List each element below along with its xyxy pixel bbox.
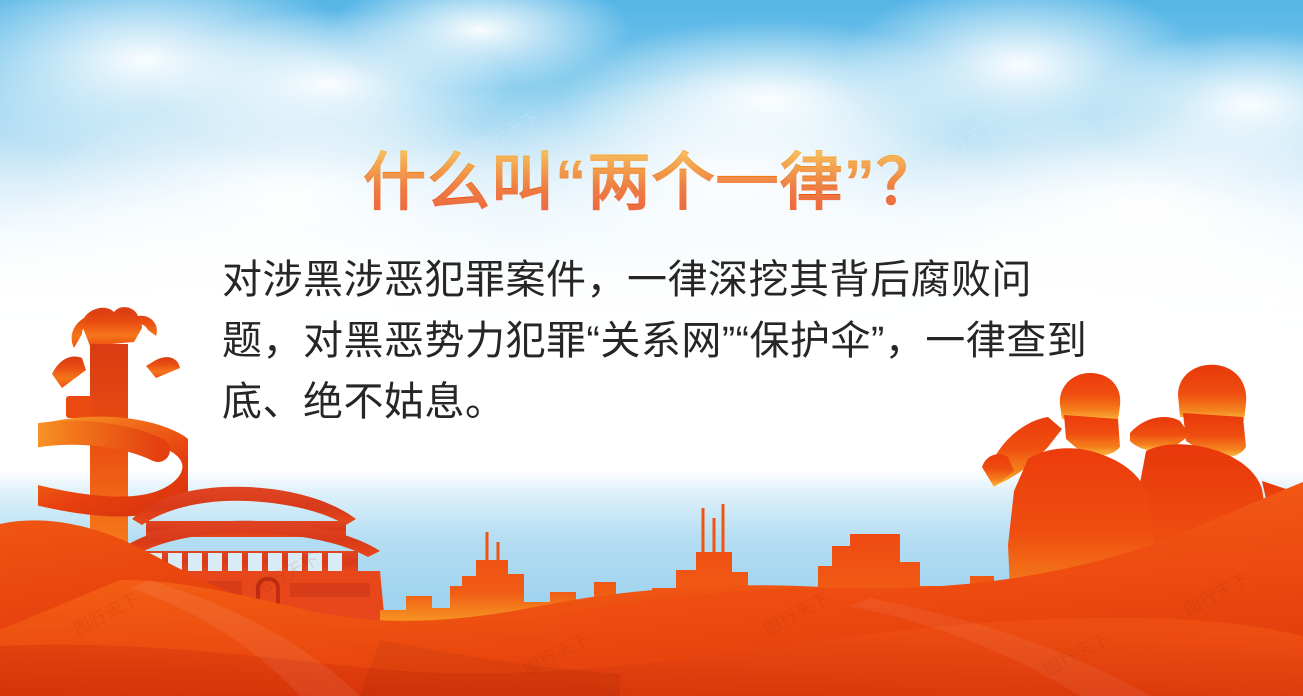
huabiao-wing-left	[52, 357, 86, 388]
soldier-right-cap	[1178, 365, 1246, 421]
huabiao-wing-right	[146, 357, 180, 378]
cloud-3	[330, 0, 630, 90]
huabiao-cloud-board-2	[83, 310, 142, 346]
cloud-1	[0, 0, 360, 160]
cloud-2	[150, 10, 510, 160]
rolling-hills-graphic	[0, 430, 1303, 696]
poster-canvas: 图行天下 图行天下 图行天下 图行天下 图行天下 图行天下 图行天下 图行天下 …	[0, 0, 1303, 696]
page-title: 什么叫“两个一律”？	[0, 150, 1303, 216]
body-paragraph: 对涉黑涉恶犯罪案件，一律深挖其背后腐败问题，对黑恶势力犯罪“关系网”“保护伞”，…	[222, 250, 1102, 432]
huabiao-side-block	[66, 396, 92, 418]
cloud-5	[840, 0, 1200, 150]
